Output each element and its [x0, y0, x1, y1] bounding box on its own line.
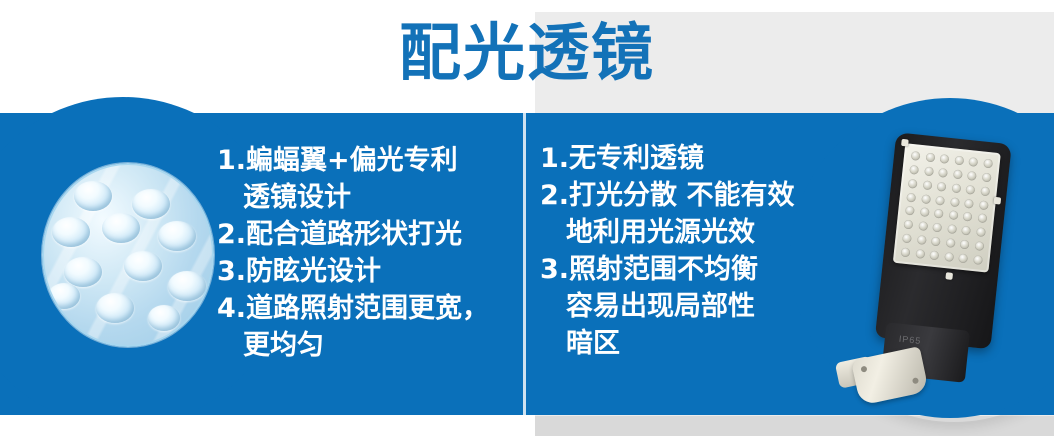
list-item: 3.防眩光设计 [217, 253, 517, 290]
list-item-text-cont: 容易出现局部性 [540, 288, 850, 325]
lamp-led-panel [893, 143, 1001, 272]
list-item: 1.无专利透镜 [540, 140, 850, 177]
list-item-text: 打光分散 不能有效 [569, 180, 794, 211]
list-item-text-cont: 透镜设计 [217, 179, 517, 216]
list-item-text: 防眩光设计 [246, 256, 381, 287]
list-item-text: 配合道路形状打光 [246, 219, 462, 250]
left-feature-list: 1.蝙蝠翼+偏光专利 透镜设计 2.配合道路形状打光 3.防眩光设计 4.道路照… [217, 142, 517, 364]
list-item: 1.蝙蝠翼+偏光专利 透镜设计 [217, 142, 517, 216]
led-street-lamp-photo: IP65 [832, 123, 1054, 424]
bottom-white-strip [0, 415, 535, 436]
lamp-led-grid [898, 149, 995, 267]
list-item-number: 1. [217, 145, 246, 176]
list-item-number: 3. [540, 254, 569, 285]
list-item-number: 2. [217, 219, 246, 250]
led-lens-array-photo [42, 163, 210, 343]
poster-canvas: 配光透镜 [0, 0, 1054, 436]
page-title: 配光透镜 [0, 20, 1054, 86]
list-item: 3.照射范围不均衡 容易出现局部性 暗区 [540, 251, 850, 362]
list-item-number: 4. [217, 293, 246, 324]
list-item: 2.配合道路形状打光 [217, 216, 517, 253]
lens-disc [42, 163, 214, 347]
list-item-text: 照射范围不均衡 [569, 254, 758, 285]
list-item-text: 蝙蝠翼+偏光专利 [246, 145, 458, 176]
column-divider [523, 113, 526, 415]
right-feature-list: 1.无专利透镜 2.打光分散 不能有效 地利用光源光效 3.照射范围不均衡 容易… [540, 140, 850, 362]
list-item-number: 3. [217, 256, 246, 287]
list-item-text-cont: 地利用光源光效 [540, 214, 850, 251]
list-item-text: 无专利透镜 [569, 143, 704, 174]
list-item-text-cont: 更均匀 [217, 327, 517, 364]
lamp-screw-tl [901, 139, 909, 147]
lamp-screw-tr [994, 197, 1002, 205]
lamp-screw-br [945, 272, 953, 280]
list-item-number: 2. [540, 180, 569, 211]
list-item-number: 1. [540, 143, 569, 174]
list-item: 2.打光分散 不能有效 地利用光源光效 [540, 177, 850, 251]
list-item-text: 道路照射范围更宽， [246, 293, 489, 324]
lamp-mount-bracket [851, 346, 929, 406]
top-white-strip [0, 0, 1054, 12]
list-item-text-cont2: 暗区 [540, 325, 850, 362]
list-item: 4.道路照射范围更宽， 更均匀 [217, 290, 517, 364]
